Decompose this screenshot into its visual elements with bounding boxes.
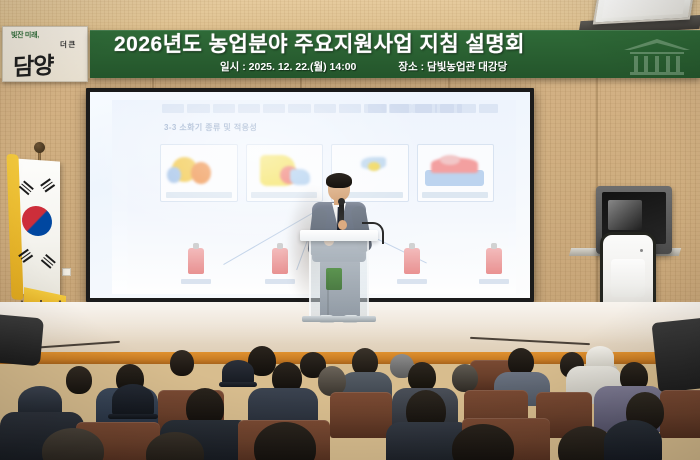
presenter-hair — [326, 173, 352, 188]
trigram — [40, 178, 56, 193]
attendee-cap — [586, 346, 614, 368]
banner-subtitle: 일시 : 2025. 12. 22.(월) 14:00 장소 : 담빛농업관 대… — [220, 59, 690, 76]
monitor-glare — [608, 200, 642, 230]
city-name-logo: 담양 — [13, 46, 54, 82]
trigram — [40, 254, 56, 269]
air-purifier-unit — [600, 232, 656, 310]
attendee-cap — [604, 420, 662, 460]
attendee-head — [170, 350, 194, 376]
slide-panel — [417, 144, 495, 202]
trigram — [18, 180, 34, 195]
banner-place: 장소 : 담빛농업관 대강당 — [398, 59, 507, 76]
taeguk-symbol — [17, 201, 58, 241]
city-slogan-line1: 빛잔 미래, — [11, 30, 39, 40]
lectern-base — [302, 316, 376, 322]
banner-title: 2026년도 농업분야 주요지원사업 지침 설명회 — [114, 31, 684, 58]
attendee-cap — [222, 360, 254, 384]
slide-header-chips-right — [368, 104, 498, 113]
south-korea-flag — [14, 158, 60, 296]
lectern-emblem — [326, 268, 342, 290]
lectern-top-surface — [300, 230, 378, 241]
slide-panel — [160, 144, 238, 202]
attendee-head — [66, 366, 92, 394]
auditorium-seat — [330, 392, 392, 438]
banner-date: 일시 : 2025. 12. 22.(월) 14:00 — [220, 59, 356, 76]
event-banner: 2026년도 농업분야 주요지원사업 지침 설명회 일시 : 2025. 12.… — [90, 30, 700, 78]
presenter-hand-right — [338, 220, 347, 230]
lectern — [300, 230, 378, 322]
auditorium-seat — [660, 390, 700, 438]
attendee-head — [452, 364, 478, 392]
auditorium-photo: 빛잔 미래, 더 큰 담양 2026년도 농업분야 주요지원사업 지침 설명회 … — [0, 0, 700, 460]
air-purifier-panel — [611, 259, 645, 297]
city-slogan-line2: 더 큰 — [60, 39, 75, 50]
power-indicator-icon — [640, 249, 643, 252]
city-slogan-sign: 빛잔 미래, 더 큰 담양 — [2, 26, 88, 82]
wall-outlet — [62, 268, 71, 276]
audience-area — [0, 344, 700, 460]
flag-finial — [34, 142, 45, 153]
attendee-cap — [112, 384, 154, 416]
slide-title: 3-3 소화기 종류 및 적응성 — [164, 122, 257, 133]
